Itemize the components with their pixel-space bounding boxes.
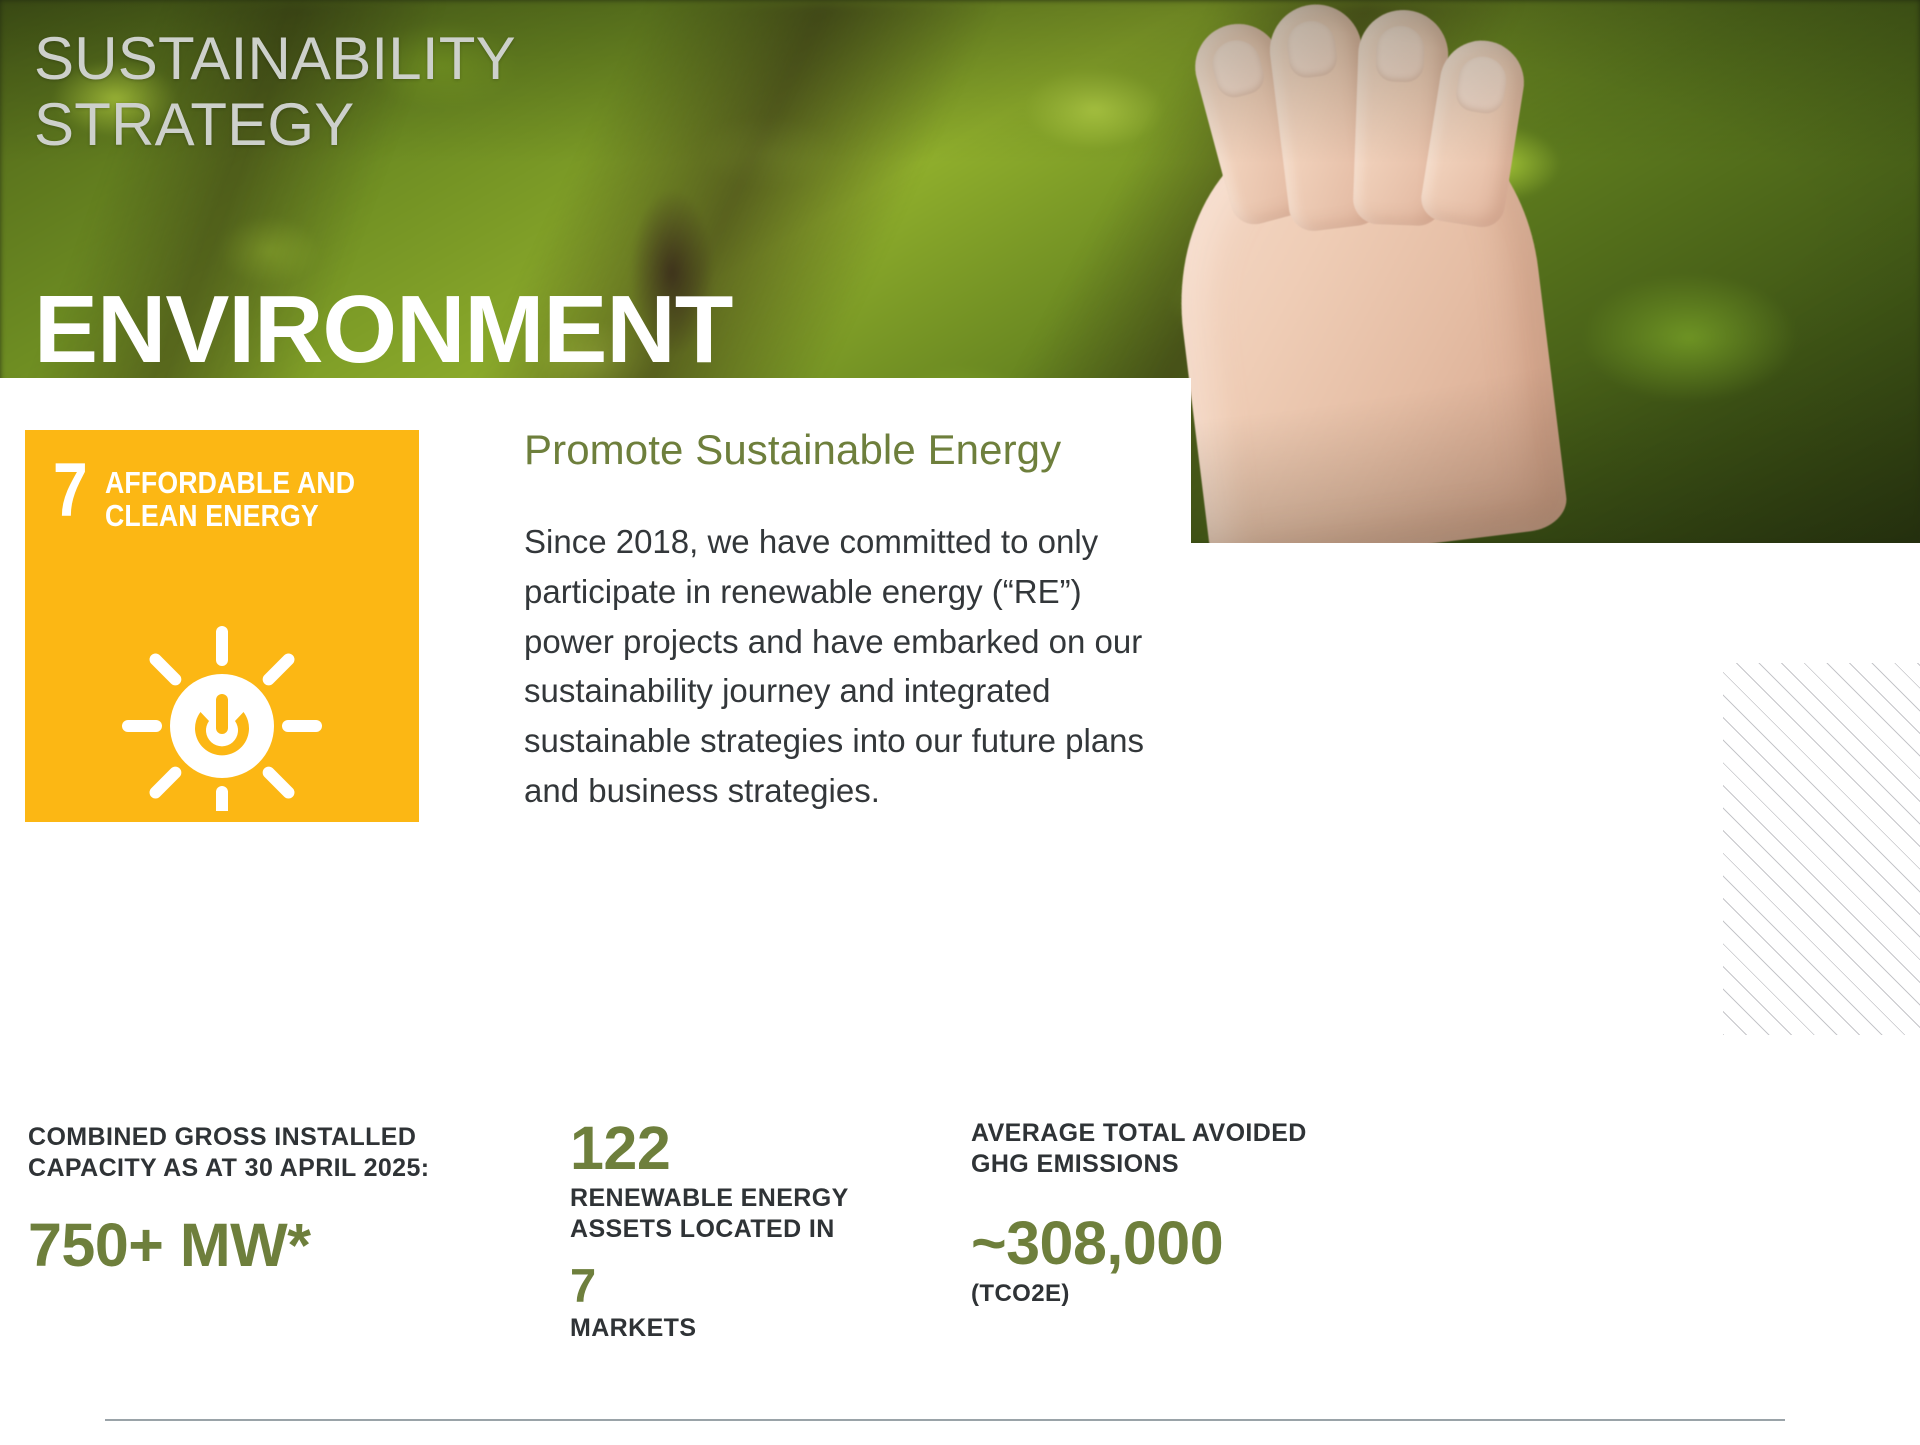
sdg-card-header: 7 AFFORDABLE AND CLEAN ENERGY [25,430,419,532]
stat-block-ghg: AVERAGE TOTAL AVOIDED GHG EMISSIONS ~308… [971,1118,1307,1308]
stat-value: ~308,000 [971,1213,1307,1274]
section-kicker: SUSTAINABILITY STRATEGY [34,26,516,158]
stat-block-assets: 122 RENEWABLE ENERGY ASSETS LOCATED IN 7… [570,1118,849,1344]
stat-block-capacity: COMBINED GROSS INSTALLED CAPACITY AS AT … [28,1122,430,1276]
stat-label: RENEWABLE ENERGY ASSETS LOCATED IN [570,1183,849,1244]
stat-label: AVERAGE TOTAL AVOIDED GHG EMISSIONS [971,1118,1307,1179]
stat-unit: (TCO2E) [971,1280,1307,1308]
sdg-label: AFFORDABLE AND CLEAN ENERGY [105,460,355,532]
footer-divider [105,1419,1785,1421]
sdg-goal-card: 7 AFFORDABLE AND CLEAN ENERGY [25,430,419,822]
sun-power-icon [122,626,322,816]
stat-label: COMBINED GROSS INSTALLED CAPACITY AS AT … [28,1122,430,1183]
stat-label-secondary: MARKETS [570,1313,849,1344]
stat-value: 750+ MW* [28,1215,430,1276]
stat-value-secondary: 7 [570,1262,849,1309]
section-body: Since 2018, we have committed to only pa… [524,517,1172,816]
page-title: ENVIRONMENT [34,282,732,378]
stat-value: 122 [570,1118,849,1179]
diagonal-hatch-decoration [1723,663,1920,1035]
section-heading: Promote Sustainable Energy [524,426,1061,474]
sdg-number: 7 [53,460,86,522]
